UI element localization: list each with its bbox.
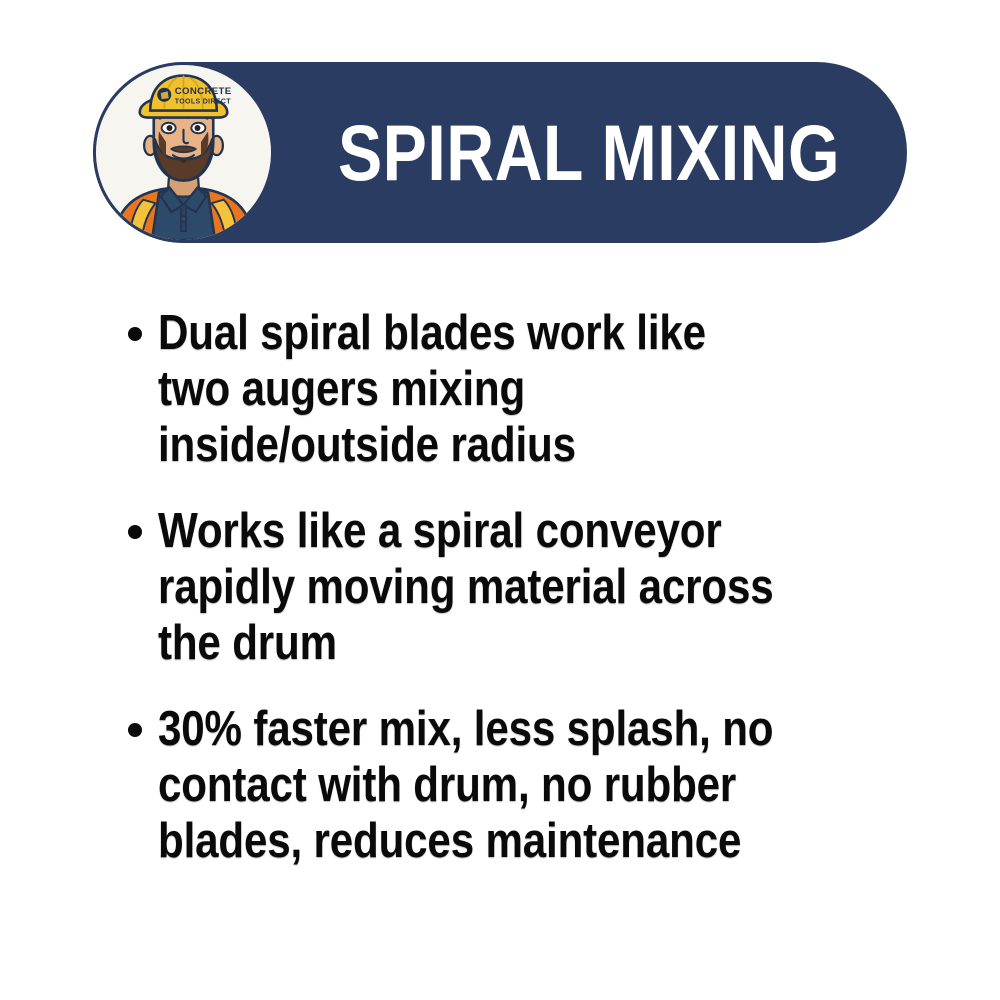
list-item-label: 30% faster mix, less splash, no contact … [158, 701, 786, 869]
svg-text:CONCRETE: CONCRETE [175, 86, 232, 97]
avatar: CONCRETE TOOLS DIRECT [93, 62, 274, 243]
list-item: Works like a spiral conveyor rapidly mov… [128, 503, 888, 671]
list-item-label: Dual spiral blades work like two augers … [158, 305, 786, 473]
feature-bullet-list: Dual spiral blades work like two augers … [128, 305, 888, 869]
bullet-dot-icon [128, 723, 142, 737]
list-item: Dual spiral blades work like two augers … [128, 305, 888, 473]
list-item-label: Works like a spiral conveyor rapidly mov… [158, 503, 786, 671]
card-header: SPIRAL MIXING [93, 62, 907, 243]
bullet-dot-icon [128, 327, 142, 341]
svg-text:TOOLS DIRECT: TOOLS DIRECT [175, 99, 232, 106]
info-card: SPIRAL MIXING [0, 0, 1000, 1000]
bullet-dot-icon [128, 525, 142, 539]
worker-illustration-icon: CONCRETE TOOLS DIRECT [96, 65, 271, 240]
page-title: SPIRAL MIXING [338, 62, 796, 243]
list-item: 30% faster mix, less splash, no contact … [128, 701, 888, 869]
